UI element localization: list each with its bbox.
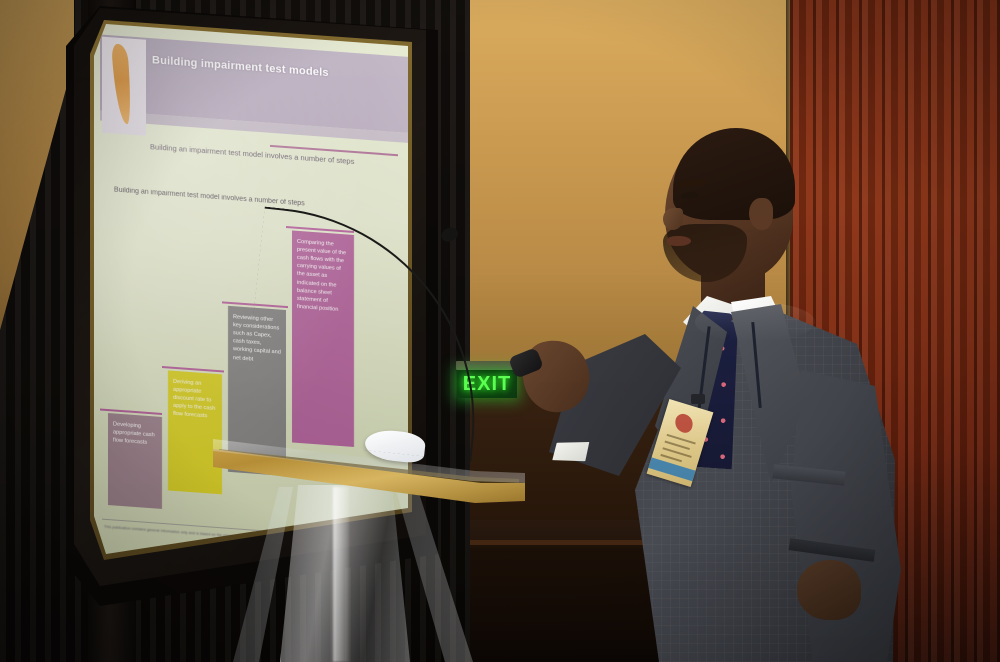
exit-sign-label: EXIT — [463, 373, 511, 396]
step-2-text: Deriving an appropriate discount rate to… — [173, 379, 215, 420]
speaker-nose — [663, 208, 683, 230]
speaker-presenter — [505, 120, 905, 662]
conference-photo-scene: EXIT Building impairment test models Bui… — [0, 0, 1000, 662]
step-1-text: Developing appropriate cash flow forecas… — [113, 421, 155, 446]
speaker-left-arm — [791, 370, 901, 662]
badge-clip — [691, 394, 705, 404]
lectern-podium — [205, 425, 525, 662]
abstract-swirl-icon — [111, 44, 133, 124]
step-4-text: Comparing the present value of the cash … — [297, 239, 346, 313]
podium-highlight — [333, 487, 349, 662]
step-3-text: Reviewing other key considerations such … — [233, 314, 281, 362]
speaker-left-hand — [797, 560, 861, 620]
speaker-hair — [673, 128, 795, 220]
speaker-ear — [749, 198, 773, 230]
speaker-lips — [667, 236, 691, 246]
step-box-1: Developing appropriate cash flow forecas… — [108, 413, 162, 509]
badge-logo-icon — [673, 412, 695, 434]
slide-logo-box — [102, 37, 146, 136]
step-box-4: Comparing the present value of the cash … — [292, 230, 354, 447]
slide-bullet-line: Building an impairment test model involv… — [114, 186, 404, 214]
